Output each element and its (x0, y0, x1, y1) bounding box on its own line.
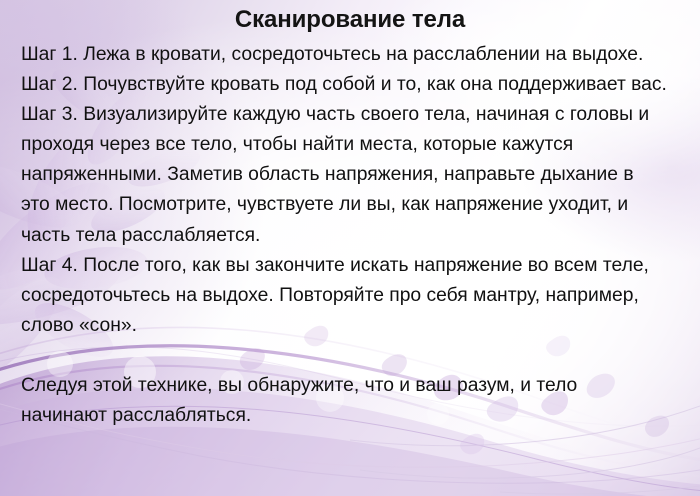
closing-paragraph: Следуя этой технике, вы обнаружите, что … (21, 371, 667, 431)
slide-canvas: Сканирование тела Шаг 1. Лежа в кровати,… (0, 0, 700, 496)
instruction-step-3: Шаг 3. Визуализируйте каждую часть своег… (21, 100, 667, 250)
paragraph-spacer (21, 341, 667, 371)
instruction-list: Шаг 1. Лежа в кровати, сосредоточьтесь н… (21, 40, 667, 431)
instruction-step-2: Шаг 2. Почувствуйте кровать под собой и … (21, 70, 667, 100)
slide-content: Сканирование тела Шаг 1. Лежа в кровати,… (0, 0, 700, 496)
instruction-step-4: Шаг 4. После того, как вы закончите иска… (21, 251, 667, 341)
instruction-step-1: Шаг 1. Лежа в кровати, сосредоточьтесь н… (21, 40, 667, 70)
page-title: Сканирование тела (0, 6, 700, 34)
